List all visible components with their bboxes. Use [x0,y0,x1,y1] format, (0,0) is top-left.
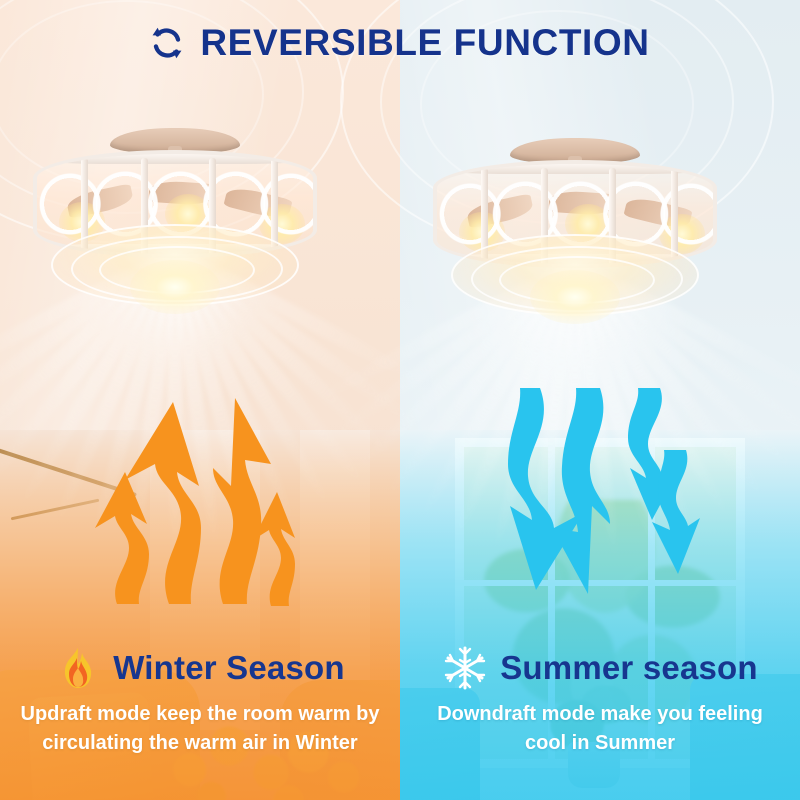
right-ceiling-fan-fixture [425,138,725,323]
upward-airflow-arrows-icon [95,368,295,608]
flame-icon [55,645,101,691]
winter-season-title: Winter Season [113,649,345,687]
reversible-rotation-icon [150,26,184,60]
left-ceiling-fan-fixture [25,128,325,313]
reversible-function-poster: REVERSIBLE FUNCTION Winter Season Updraf… [0,0,800,800]
page-title: REVERSIBLE FUNCTION [200,22,649,64]
snowflake-icon [442,645,488,691]
poster-title-row: REVERSIBLE FUNCTION [0,22,800,64]
downward-airflow-arrows-icon [500,388,700,628]
summer-season-title: Summer season [500,649,758,687]
fixture-center-light-glow [530,270,620,324]
summer-description: Downdraft mode make you feeling cool in … [400,700,800,758]
winter-label-block: Winter Season Updraft mode keep the room… [0,640,400,758]
winter-description: Updraft mode keep the room warm by circu… [0,700,400,758]
fixture-center-light-glow [130,260,220,314]
summer-label-block: Summer season Downdraft mode make you fe… [400,640,800,758]
